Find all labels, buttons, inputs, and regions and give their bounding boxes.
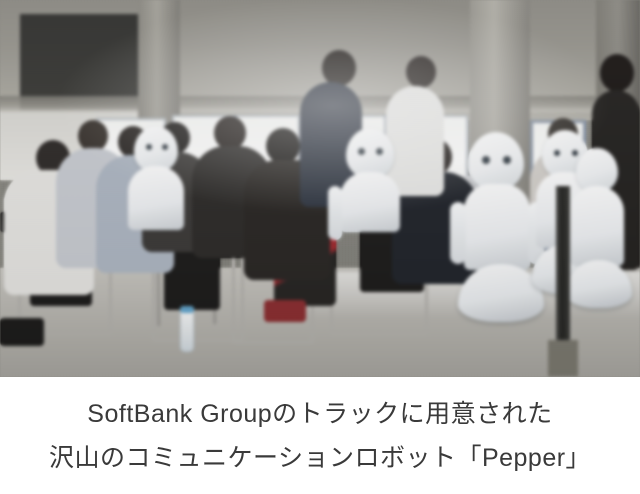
pepper-torso bbox=[128, 166, 184, 230]
pole-base bbox=[548, 340, 578, 376]
event-photo bbox=[0, 0, 640, 377]
pepper-eye bbox=[146, 144, 152, 150]
photo-caption: SoftBank Groupのトラックに用意された 沢山のコミュニケーションロボ… bbox=[0, 377, 640, 494]
shoe bbox=[264, 300, 306, 322]
pepper-head bbox=[346, 128, 394, 178]
photo-figure: SoftBank Groupのトラックに用意された 沢山のコミュニケーションロボ… bbox=[0, 0, 640, 494]
pepper-head bbox=[468, 132, 524, 190]
pepper-torso bbox=[464, 184, 530, 270]
pepper-eye bbox=[572, 150, 578, 156]
standing-person-torso bbox=[386, 86, 444, 196]
pepper-eye bbox=[554, 150, 560, 156]
person-head bbox=[214, 116, 246, 150]
caption-line-1: SoftBank Groupのトラックに用意された bbox=[87, 394, 552, 434]
standing-person-head bbox=[322, 50, 356, 86]
bottle-cap bbox=[180, 306, 194, 313]
pepper-arm bbox=[328, 186, 342, 240]
floor-bag bbox=[0, 318, 44, 346]
pepper-eye bbox=[376, 148, 383, 155]
pepper-torso bbox=[340, 172, 400, 232]
person-head bbox=[266, 128, 300, 164]
standing-person-head bbox=[600, 54, 634, 92]
concrete-pillar-left bbox=[138, 0, 180, 128]
pepper-eye bbox=[358, 148, 365, 155]
caption-line-2: 沢山のコミュニケーションロボット「Pepper」 bbox=[49, 438, 591, 478]
pepper-eye bbox=[482, 156, 490, 164]
water-bottle bbox=[180, 310, 194, 352]
photo-scene bbox=[0, 0, 640, 377]
standing-person-head bbox=[406, 56, 436, 88]
pepper-eye bbox=[503, 156, 511, 164]
pepper-torso bbox=[570, 186, 624, 266]
pepper-arm bbox=[450, 202, 466, 264]
pepper-eye bbox=[162, 144, 168, 150]
